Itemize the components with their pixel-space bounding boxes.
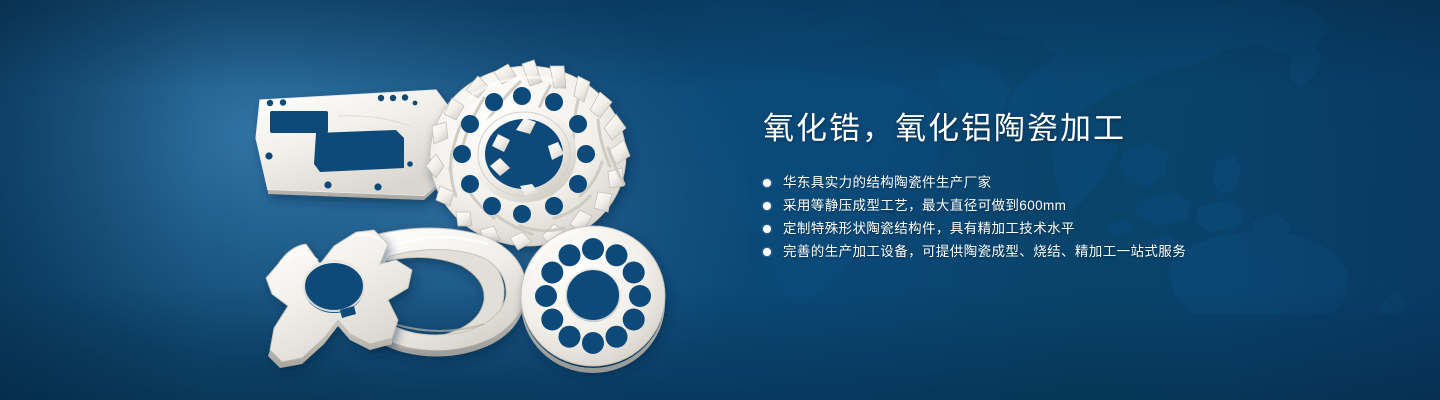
bullet-dot-icon [763,225,771,233]
list-item: 采用等静压成型工艺，最大直径可做到600mm [763,197,1403,214]
list-item: 完善的生产加工设备，可提供陶瓷成型、烧结、精加工一站式服务 [763,243,1403,260]
feature-text: 采用等静压成型工艺，最大直径可做到600mm [783,197,1066,214]
hero-banner: 氧化锆，氧化铝陶瓷加工 华东具实力的结构陶瓷件生产厂家 采用等静压成型工艺，最大… [0,0,1440,400]
feature-text: 定制特殊形状陶瓷结构件，具有精加工技术水平 [783,220,1075,237]
bullet-dot-icon [763,248,771,256]
bullet-dot-icon [763,202,771,210]
list-item: 定制特殊形状陶瓷结构件，具有精加工技术水平 [763,220,1403,237]
banner-text-column: 氧化锆，氧化铝陶瓷加工 华东具实力的结构陶瓷件生产厂家 采用等静压成型工艺，最大… [763,110,1403,266]
page-title: 氧化锆，氧化铝陶瓷加工 [763,110,1403,147]
feature-list: 华东具实力的结构陶瓷件生产厂家 采用等静压成型工艺，最大直径可做到600mm 定… [763,174,1403,260]
feature-text: 完善的生产加工设备，可提供陶瓷成型、烧结、精加工一站式服务 [783,243,1186,260]
bullet-dot-icon [763,179,771,187]
list-item: 华东具实力的结构陶瓷件生产厂家 [763,174,1403,191]
feature-text: 华东具实力的结构陶瓷件生产厂家 [783,174,992,191]
